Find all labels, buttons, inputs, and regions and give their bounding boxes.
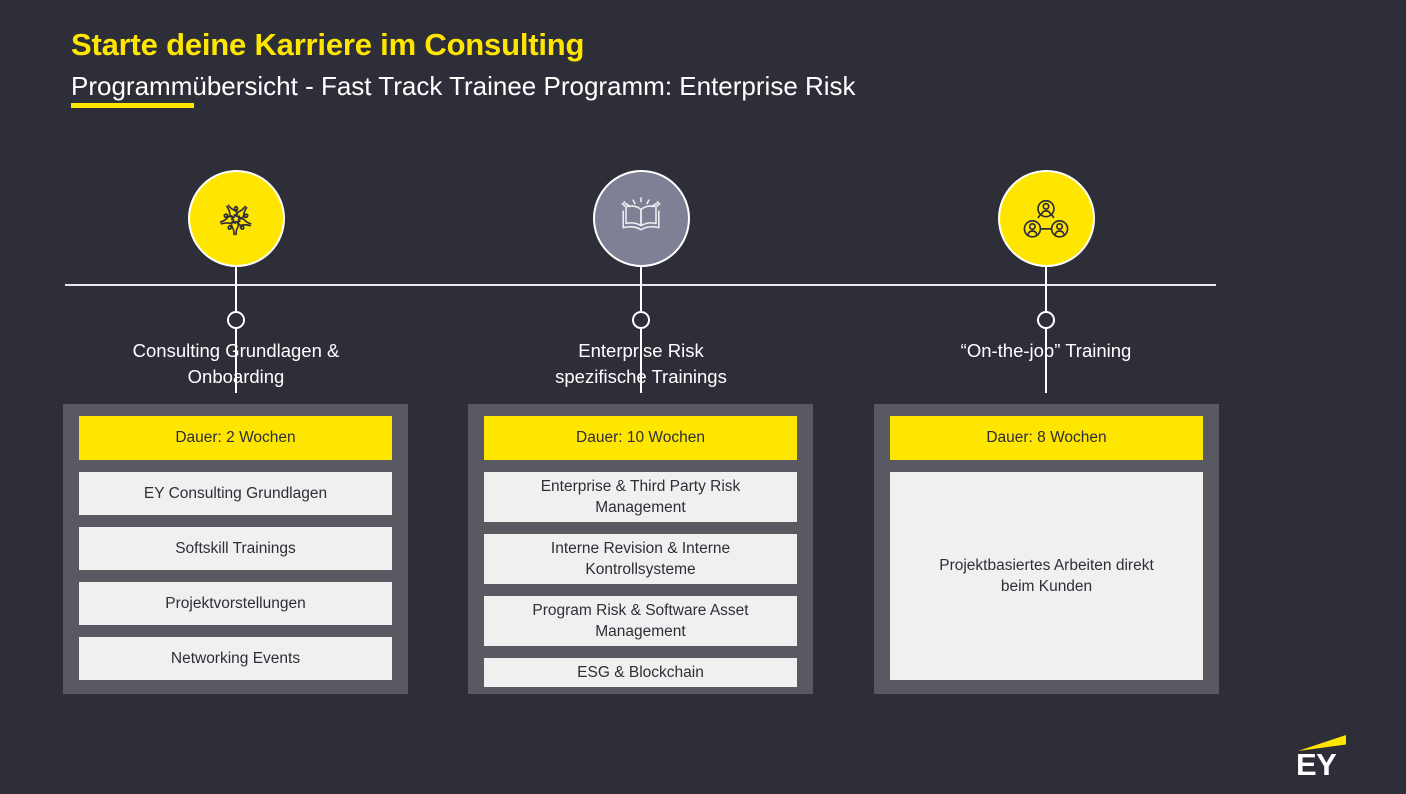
phase-card-1: Dauer: 2 Wochen EY Consulting Grundlagen…: [63, 404, 408, 694]
subtitle-underline-accent: [71, 103, 194, 108]
phase-item[interactable]: Projektvorstellungen: [79, 582, 392, 625]
timeline-milestone-1[interactable]: Consulting Grundlagen & Onboarding: [86, 170, 386, 267]
open-book-sparkles-icon: [611, 189, 671, 249]
phase-duration-badge: Dauer: 2 Wochen: [79, 416, 392, 460]
phase-duration-badge: Dauer: 8 Wochen: [890, 416, 1203, 460]
phase-card-3: Dauer: 8 Wochen Projektbasiertes Arbeite…: [874, 404, 1219, 694]
timeline-milestone-2[interactable]: Enterprise Risk spezifische Trainings: [491, 170, 791, 267]
timeline-milestone-3[interactable]: “On-the-job” Training: [896, 170, 1196, 267]
milestone-stem: [1045, 265, 1047, 393]
ey-logo: EY: [1296, 735, 1348, 781]
phase-item[interactable]: Enterprise & Third Party Risk Management: [484, 472, 797, 522]
page-title: Starte deine Karriere im Consulting: [71, 24, 856, 66]
phase-card-2: Dauer: 10 Wochen Enterprise & Third Part…: [468, 404, 813, 694]
phase-item[interactable]: Projektbasiertes Arbeiten direkt beim Ku…: [890, 472, 1203, 680]
milestone-icon-badge[interactable]: [188, 170, 285, 267]
milestone-node-ring: [227, 311, 245, 329]
phase-item[interactable]: ESG & Blockchain: [484, 658, 797, 687]
ey-logo-text: EY: [1296, 749, 1336, 781]
milestone-stem: [235, 265, 237, 393]
phase-item[interactable]: Softskill Trainings: [79, 527, 392, 570]
slide-canvas: Starte deine Karriere im Consulting Prog…: [0, 0, 1406, 794]
phase-item[interactable]: Program Risk & Software Asset Management: [484, 596, 797, 646]
milestone-icon-badge[interactable]: [998, 170, 1095, 267]
phase-item[interactable]: Interne Revision & Interne Kontrollsyste…: [484, 534, 797, 584]
header: Starte deine Karriere im Consulting Prog…: [71, 24, 856, 103]
milestone-node-ring: [1037, 311, 1055, 329]
phase-item[interactable]: EY Consulting Grundlagen: [79, 472, 392, 515]
milestone-node-ring: [632, 311, 650, 329]
teamwork-hands-icon: [205, 188, 267, 250]
milestone-icon-badge[interactable]: [593, 170, 690, 267]
phase-item[interactable]: Networking Events: [79, 637, 392, 680]
phase-duration-badge: Dauer: 10 Wochen: [484, 416, 797, 460]
page-subtitle: Programmübersicht - Fast Track Trainee P…: [71, 69, 856, 103]
milestone-stem: [640, 265, 642, 393]
people-network-icon: [1016, 189, 1076, 249]
subtitle-wrapper: Programmübersicht - Fast Track Trainee P…: [71, 69, 856, 103]
